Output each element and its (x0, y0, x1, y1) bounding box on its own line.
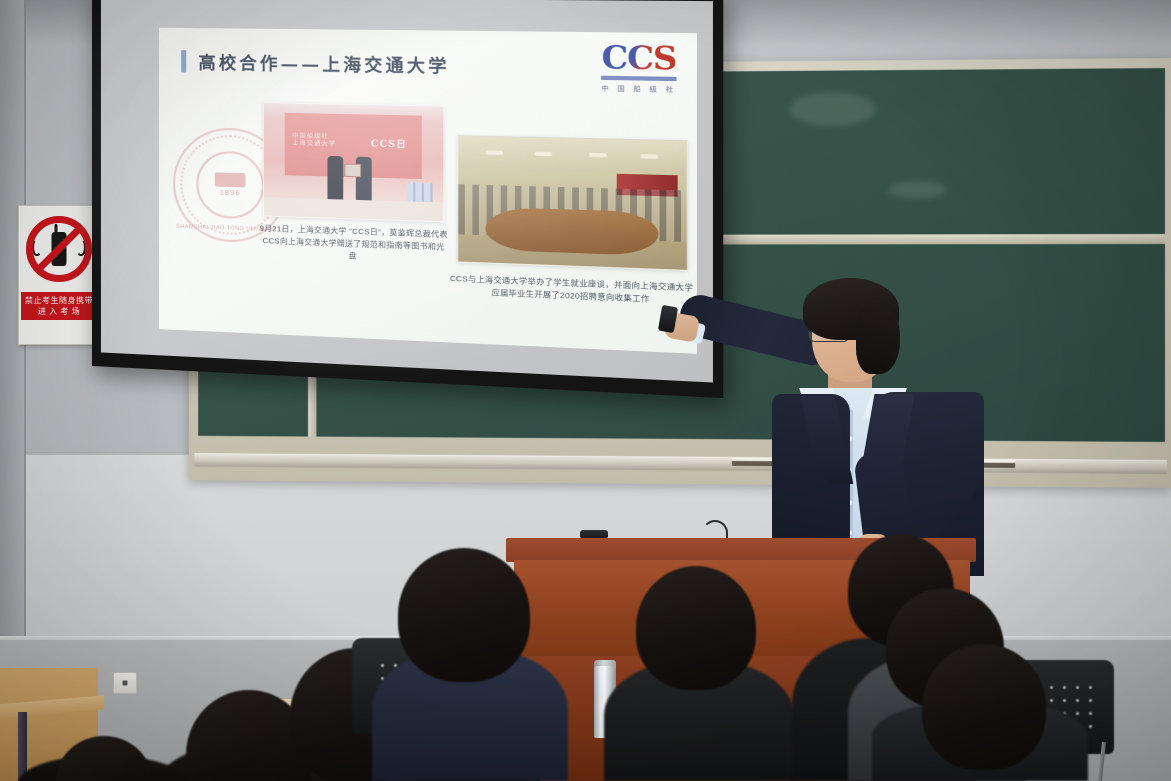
wall-outlet-white (113, 672, 137, 694)
caption-left: 9月21日，上海交通大学 “CCS日”，莫鉴辉总裁代表CCS向上海交通大学赠送了… (259, 222, 449, 266)
sjtu-seal-inner: 1896 (196, 151, 264, 220)
photo-conference-table (485, 207, 659, 256)
photo-ceiling-light (589, 153, 607, 158)
photo-gift-boxes (407, 183, 433, 202)
photo-plaque (344, 164, 361, 178)
caption-right: CCS与上海交通大学举办了学生就业座谈，并面向上海交通大学应届毕业生开展了202… (449, 273, 695, 308)
lecture-hall-scene: 禁止考生随身携带 进 入 考 场 高校合作——上海交通大学 CCS 中 国 船 … (0, 0, 1171, 781)
ccs-logo-mark: CCS (601, 43, 676, 76)
sign-text-line2: 进 入 考 场 (22, 306, 96, 317)
audience-head (398, 548, 530, 682)
sjtu-seal-year: 1896 (219, 189, 240, 198)
photo-person (328, 156, 344, 200)
photo-ceiling-light (535, 152, 553, 157)
sign-text: 禁止考生随身携带 进 入 考 场 (21, 292, 97, 320)
photo-conference-room (457, 135, 688, 271)
sjtu-anvil-icon (215, 172, 246, 187)
ccs-logo: CCS 中 国 船 级 社 (601, 43, 676, 94)
photo-award-ceremony: 中国船级社上海交通大学 CCS日 (263, 102, 444, 222)
photo-ceiling-light (640, 154, 658, 159)
photo-banner-mark: CCS日 (371, 136, 407, 150)
projection-screen-surface: 高校合作——上海交通大学 CCS 中 国 船 级 社 1896 SHANGHAI… (101, 0, 713, 383)
projection-screen: 高校合作——上海交通大学 CCS 中 国 船 级 社 1896 SHANGHAI… (92, 0, 723, 398)
sign-text-line1: 禁止考生随身携带 (22, 295, 96, 306)
photo-ceiling-light (485, 151, 502, 156)
podium-cable (702, 520, 728, 540)
no-mobile-phone-sign: 禁止考生随身携带 进 入 考 场 (18, 205, 100, 345)
audience-head (922, 644, 1046, 770)
presenter-hair-side (856, 302, 900, 374)
presentation-slide: 高校合作——上海交通大学 CCS 中 国 船 级 社 1896 SHANGHAI… (159, 28, 697, 354)
no-phone-icon (26, 216, 92, 282)
slide-title: 高校合作——上海交通大学 (198, 48, 449, 77)
ccs-logo-subtitle: 中 国 船 级 社 (601, 82, 676, 94)
ccs-logo-rule (601, 76, 676, 81)
outlet-socket-icon (123, 681, 128, 686)
title-accent-bar (181, 50, 186, 72)
slide-header: 高校合作——上海交通大学 (181, 48, 450, 77)
audience-head (636, 566, 756, 690)
